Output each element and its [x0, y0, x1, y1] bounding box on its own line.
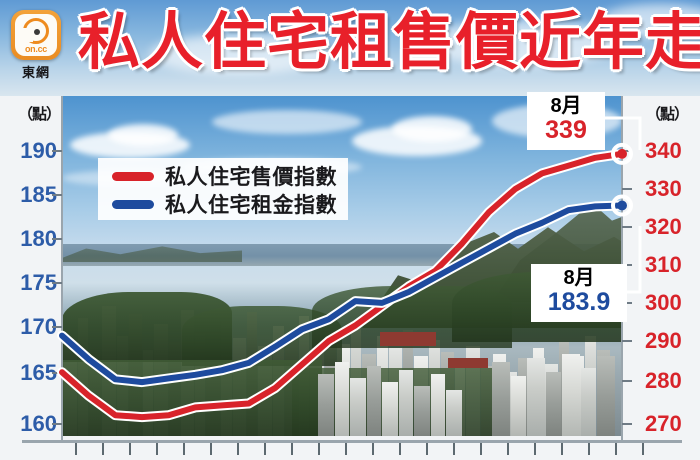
callout-value: 183.9	[531, 289, 627, 315]
legend-swatch-red	[112, 172, 154, 181]
callout-month: 8月	[527, 96, 605, 117]
callout-month: 8月	[531, 268, 627, 289]
callout-sale-price: 8月 339	[527, 92, 605, 150]
infographic-chart: on.cc 東網 私人住宅租售價近年走勢 （點） （點） 190 185 180…	[0, 0, 700, 460]
chart-lines	[0, 0, 700, 460]
callout-value: 339	[527, 117, 605, 143]
legend-item-rent: 私人住宅租金指數	[112, 191, 337, 217]
legend: 私人住宅售價指數 私人住宅租金指數	[98, 158, 348, 220]
callout-rent: 8月 183.9	[531, 264, 627, 322]
legend-label: 私人住宅售價指數	[165, 161, 337, 191]
legend-label: 私人住宅租金指數	[165, 189, 337, 219]
legend-item-sale-price: 私人住宅售價指數	[112, 163, 337, 189]
legend-swatch-blue	[112, 200, 154, 209]
